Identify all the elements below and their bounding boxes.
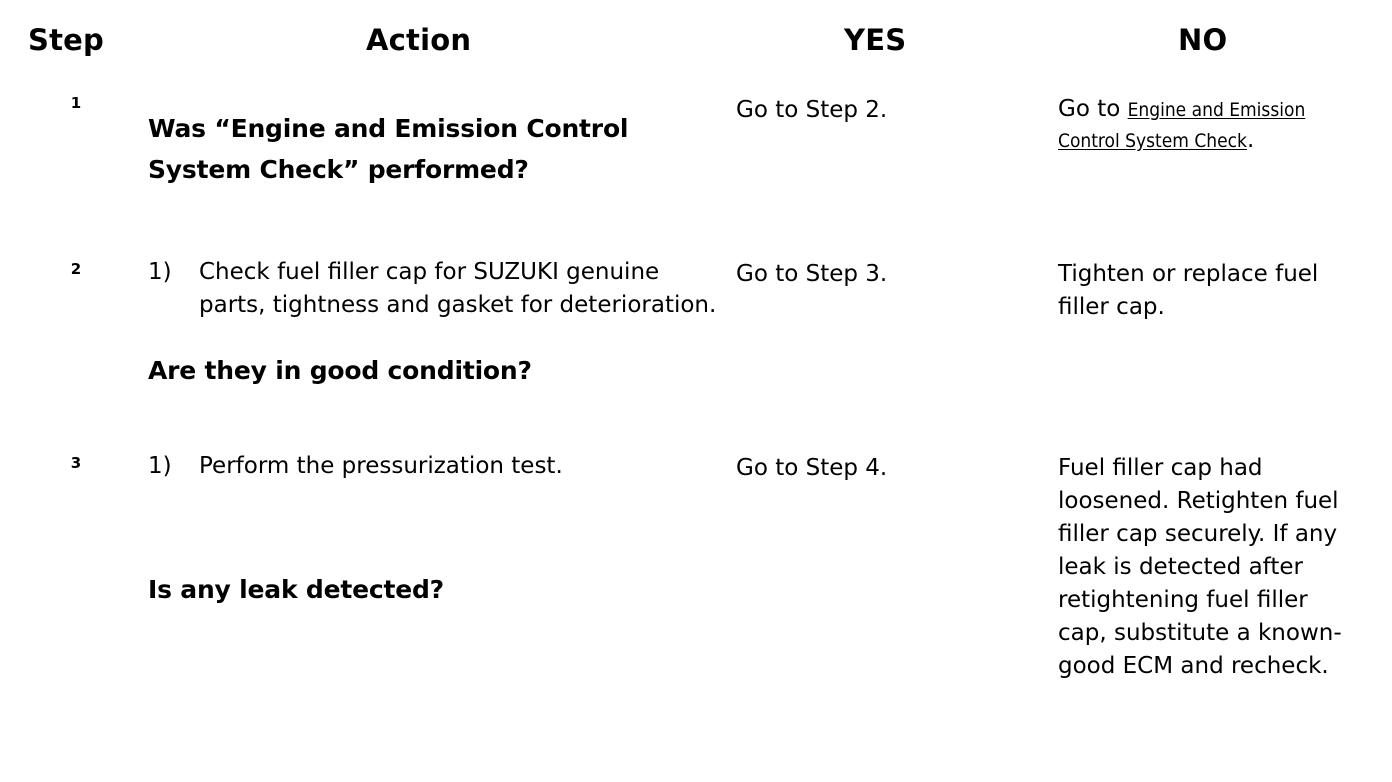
action-cell-step-1: Was “Engine and Emission Control System … (148, 108, 718, 190)
action-question: Are they in good condition? (148, 350, 718, 391)
no-cell-step-3: Fuel filler cap had loosened. Retighten … (1058, 452, 1358, 683)
spacer (148, 322, 718, 350)
list-item-text: Perform the pressurization test. (199, 450, 718, 483)
spacer (148, 483, 718, 569)
no-cell-step-2: Tighten or replace fuel filler cap. (1058, 258, 1358, 324)
no-result-lead: Go to (1058, 96, 1128, 122)
no-result-tail: . (1247, 127, 1254, 153)
yes-result-text: Go to Step 3. (736, 258, 1036, 291)
no-result-text: Fuel filler cap had loosened. Retighten … (1058, 452, 1358, 683)
no-result-text: Go to Engine and Emission Control System… (1058, 94, 1358, 156)
table-row: 3 (40, 456, 112, 471)
yes-result-text: Go to Step 2. (736, 94, 1036, 127)
list-item-text: Check fuel filler cap for SUZUKI genuine… (199, 256, 718, 322)
no-result-text: Tighten or replace fuel filler cap. (1058, 258, 1358, 324)
yes-cell-step-2: Go to Step 3. (736, 258, 1036, 291)
action-question: Is any leak detected? (148, 569, 718, 610)
column-header-action: Action (366, 26, 471, 55)
action-cell-step-3: 1) Perform the pressurization test. Is a… (148, 450, 718, 610)
diagnostic-flow-table: Step Action YES NO 1 Was “Engine and Emi… (0, 0, 1392, 782)
column-header-yes: YES (844, 26, 906, 55)
step-number: 3 (71, 454, 81, 472)
step-number: 1 (71, 94, 81, 112)
yes-cell-step-1: Go to Step 2. (736, 94, 1036, 127)
list-marker: 1) (148, 450, 199, 483)
action-cell-step-2: 1) Check fuel filler cap for SUZUKI genu… (148, 256, 718, 391)
column-header-no: NO (1178, 26, 1227, 55)
table-row: 2 (40, 262, 112, 277)
no-cell-step-1: Go to Engine and Emission Control System… (1058, 94, 1358, 156)
table-row: 1 (40, 96, 112, 111)
action-list-item: 1) Perform the pressurization test. (148, 450, 718, 483)
yes-result-text: Go to Step 4. (736, 452, 1036, 485)
action-list-item: 1) Check fuel filler cap for SUZUKI genu… (148, 256, 718, 322)
action-question: Was “Engine and Emission Control System … (148, 108, 718, 190)
yes-cell-step-3: Go to Step 4. (736, 452, 1036, 485)
step-number: 2 (71, 260, 81, 278)
list-marker: 1) (148, 256, 199, 289)
column-header-step: Step (28, 26, 104, 55)
